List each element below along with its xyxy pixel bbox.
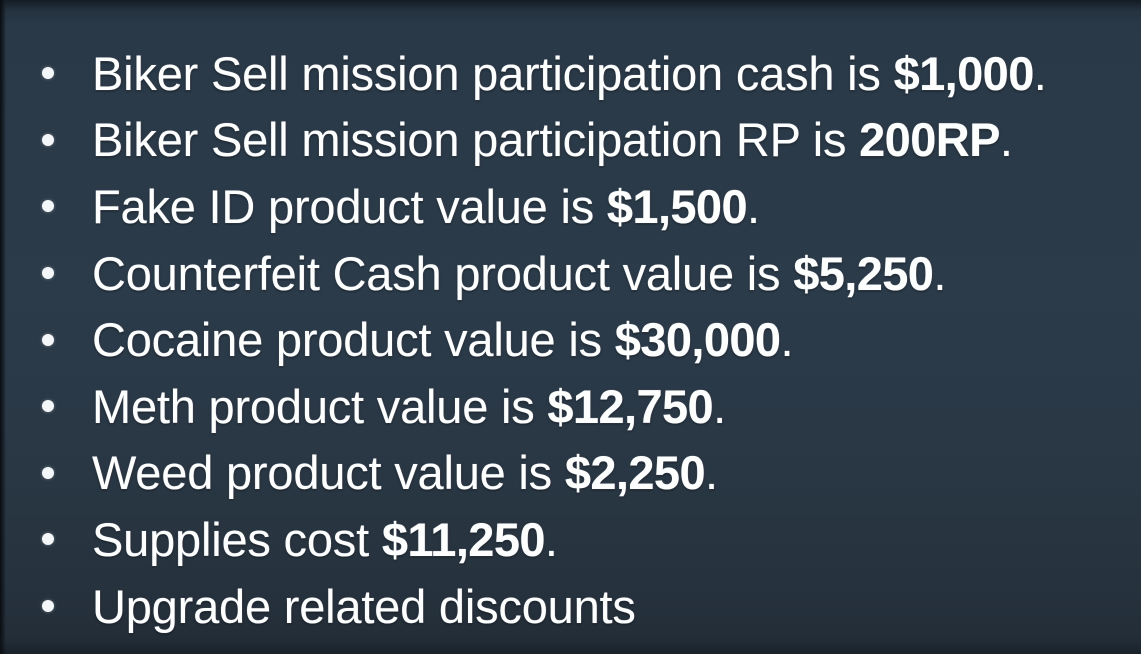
list-item-punctuation: . [1034, 47, 1047, 100]
list-item-label: Weed product value is [92, 446, 565, 499]
list-item-text: Upgrade related discounts [92, 583, 636, 630]
list-item-punctuation: . [780, 313, 793, 366]
list-item-punctuation: . [713, 380, 726, 433]
list-item-label: Supplies cost [92, 513, 382, 566]
list-item-punctuation: . [545, 513, 558, 566]
list-item-punctuation: . [747, 180, 760, 233]
list-item: Upgrade related discounts [0, 573, 1141, 640]
bullet-dot-icon [42, 400, 54, 412]
bullet-dot-icon [42, 267, 54, 279]
list-item-value: $12,750 [547, 380, 713, 433]
list-item-text: Supplies cost $11,250. [92, 516, 558, 563]
list-item: Biker Sell mission participation RP is 2… [0, 107, 1141, 174]
bullet-dot-icon [42, 533, 54, 545]
list-item-text: Counterfeit Cash product value is $5,250… [92, 250, 946, 297]
list-item: Cocaine product value is $30,000. [0, 306, 1141, 373]
list-item: Counterfeit Cash product value is $5,250… [0, 240, 1141, 307]
list-item-label: Biker Sell mission participation cash is [92, 47, 894, 100]
list-item-text: Biker Sell mission participation cash is… [92, 50, 1047, 97]
list-item: Weed product value is $2,250. [0, 440, 1141, 507]
list-item-text: Meth product value is $12,750. [92, 383, 726, 430]
list-item: Fake ID product value is $1,500. [0, 173, 1141, 240]
list-item-punctuation: . [933, 247, 946, 300]
list-item-text: Biker Sell mission participation RP is 2… [92, 116, 1013, 163]
list-item: Biker Sell mission participation cash is… [0, 40, 1141, 107]
list-item-label: Biker Sell mission participation RP is [92, 113, 859, 166]
top-edge-vignette [0, 0, 1141, 11]
bullet-dot-icon [42, 67, 54, 79]
bullet-dot-icon [42, 334, 54, 346]
bullet-dot-icon [42, 467, 54, 479]
list-item-value: $1,500 [607, 180, 747, 233]
list-item-value: 200RP [859, 113, 1000, 166]
list-item-value: $2,250 [565, 446, 705, 499]
list-item-punctuation: . [1000, 113, 1013, 166]
list-item-text: Weed product value is $2,250. [92, 449, 718, 496]
list-item-label: Upgrade related discounts [92, 580, 636, 633]
list-item-value: $5,250 [793, 247, 933, 300]
list-item: Meth product value is $12,750. [0, 373, 1141, 440]
bullet-dot-icon [42, 200, 54, 212]
bullet-dot-icon [42, 134, 54, 146]
bullet-list: Biker Sell mission participation cash is… [0, 40, 1141, 639]
list-item-punctuation: . [705, 446, 718, 499]
slide-root: Biker Sell mission participation cash is… [0, 0, 1141, 654]
bullet-dot-icon [42, 600, 54, 612]
list-item-label: Meth product value is [92, 380, 547, 433]
list-item-label: Cocaine product value is [92, 313, 615, 366]
list-item-value: $11,250 [382, 513, 545, 566]
list-item: Supplies cost $11,250. [0, 506, 1141, 573]
list-item-value: $1,000 [894, 47, 1034, 100]
list-item-value: $30,000 [615, 313, 781, 366]
list-item-label: Fake ID product value is [92, 180, 607, 233]
list-item-text: Cocaine product value is $30,000. [92, 316, 793, 363]
list-item-label: Counterfeit Cash product value is [92, 247, 793, 300]
list-item-text: Fake ID product value is $1,500. [92, 183, 760, 230]
